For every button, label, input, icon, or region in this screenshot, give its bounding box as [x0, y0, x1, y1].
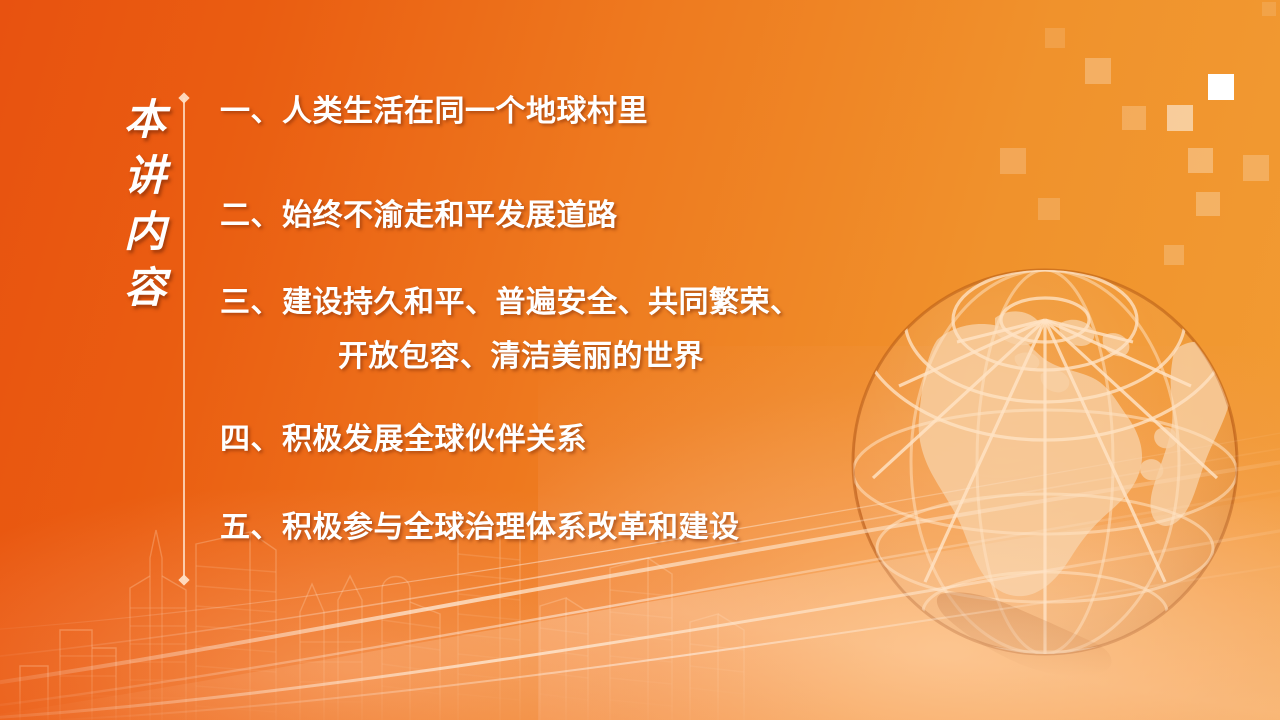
decorative-square: [1045, 28, 1065, 48]
vertical-title-char-2: 讲: [124, 156, 166, 198]
vertical-title-char-1: 本: [124, 100, 166, 142]
list-item: 四、 积极发展全球伙伴关系: [220, 420, 920, 460]
list-item: 三、 建设持久和平、普遍安全、共同繁荣、 开放包容、清洁美丽的世界: [220, 283, 920, 376]
list-item-text: 积极参与全球治理体系改革和建设: [282, 508, 920, 548]
decorative-square: [1122, 106, 1146, 130]
decorative-square: [1243, 155, 1269, 181]
list-item-text: 建设持久和平、普遍安全、共同繁荣、 开放包容、清洁美丽的世界: [282, 283, 920, 376]
list-gap: [220, 460, 920, 508]
decorative-square: [1164, 245, 1184, 265]
list-item-number: 五、: [220, 508, 282, 548]
agenda-list: 一、 人类生活在同一个地球村里 二、 始终不渝走和平发展道路 三、 建设持久和平…: [220, 92, 920, 548]
list-item-text: 人类生活在同一个地球村里: [282, 92, 920, 132]
list-item-text-line-1: 建设持久和平、普遍安全、共同繁荣、: [282, 286, 801, 319]
decorative-square: [1038, 198, 1060, 220]
vertical-section-title: 本 讲 内 容: [114, 100, 176, 310]
list-gap: [220, 132, 920, 196]
slide-canvas: 本 讲 内 容 一、 人类生活在同一个地球村里 二、 始终不渝走和平发展道路 三…: [0, 0, 1280, 720]
decorative-square: [1085, 58, 1111, 84]
decorative-square: [1262, 2, 1276, 16]
list-gap: [220, 376, 920, 420]
list-gap: [220, 235, 920, 283]
decorative-square: [1167, 105, 1193, 131]
vertical-title-char-4: 容: [124, 268, 166, 310]
list-item-number: 二、: [220, 196, 282, 236]
list-item: 五、 积极参与全球治理体系改革和建设: [220, 508, 920, 548]
decorative-square: [1208, 74, 1234, 100]
decorative-square: [1188, 148, 1213, 173]
list-item-text: 始终不渝走和平发展道路: [282, 196, 920, 236]
decorative-square: [1196, 192, 1220, 216]
list-item-number: 三、: [220, 283, 282, 323]
vertical-title-char-3: 内: [124, 212, 166, 254]
list-item-text: 积极发展全球伙伴关系: [282, 420, 920, 460]
vertical-divider: [183, 98, 185, 580]
decorative-square: [1000, 148, 1026, 174]
list-item: 一、 人类生活在同一个地球村里: [220, 92, 920, 132]
list-item-number: 四、: [220, 420, 282, 460]
list-item: 二、 始终不渝走和平发展道路: [220, 196, 920, 236]
list-item-text-line-2: 开放包容、清洁美丽的世界: [282, 337, 920, 377]
list-item-number: 一、: [220, 92, 282, 132]
